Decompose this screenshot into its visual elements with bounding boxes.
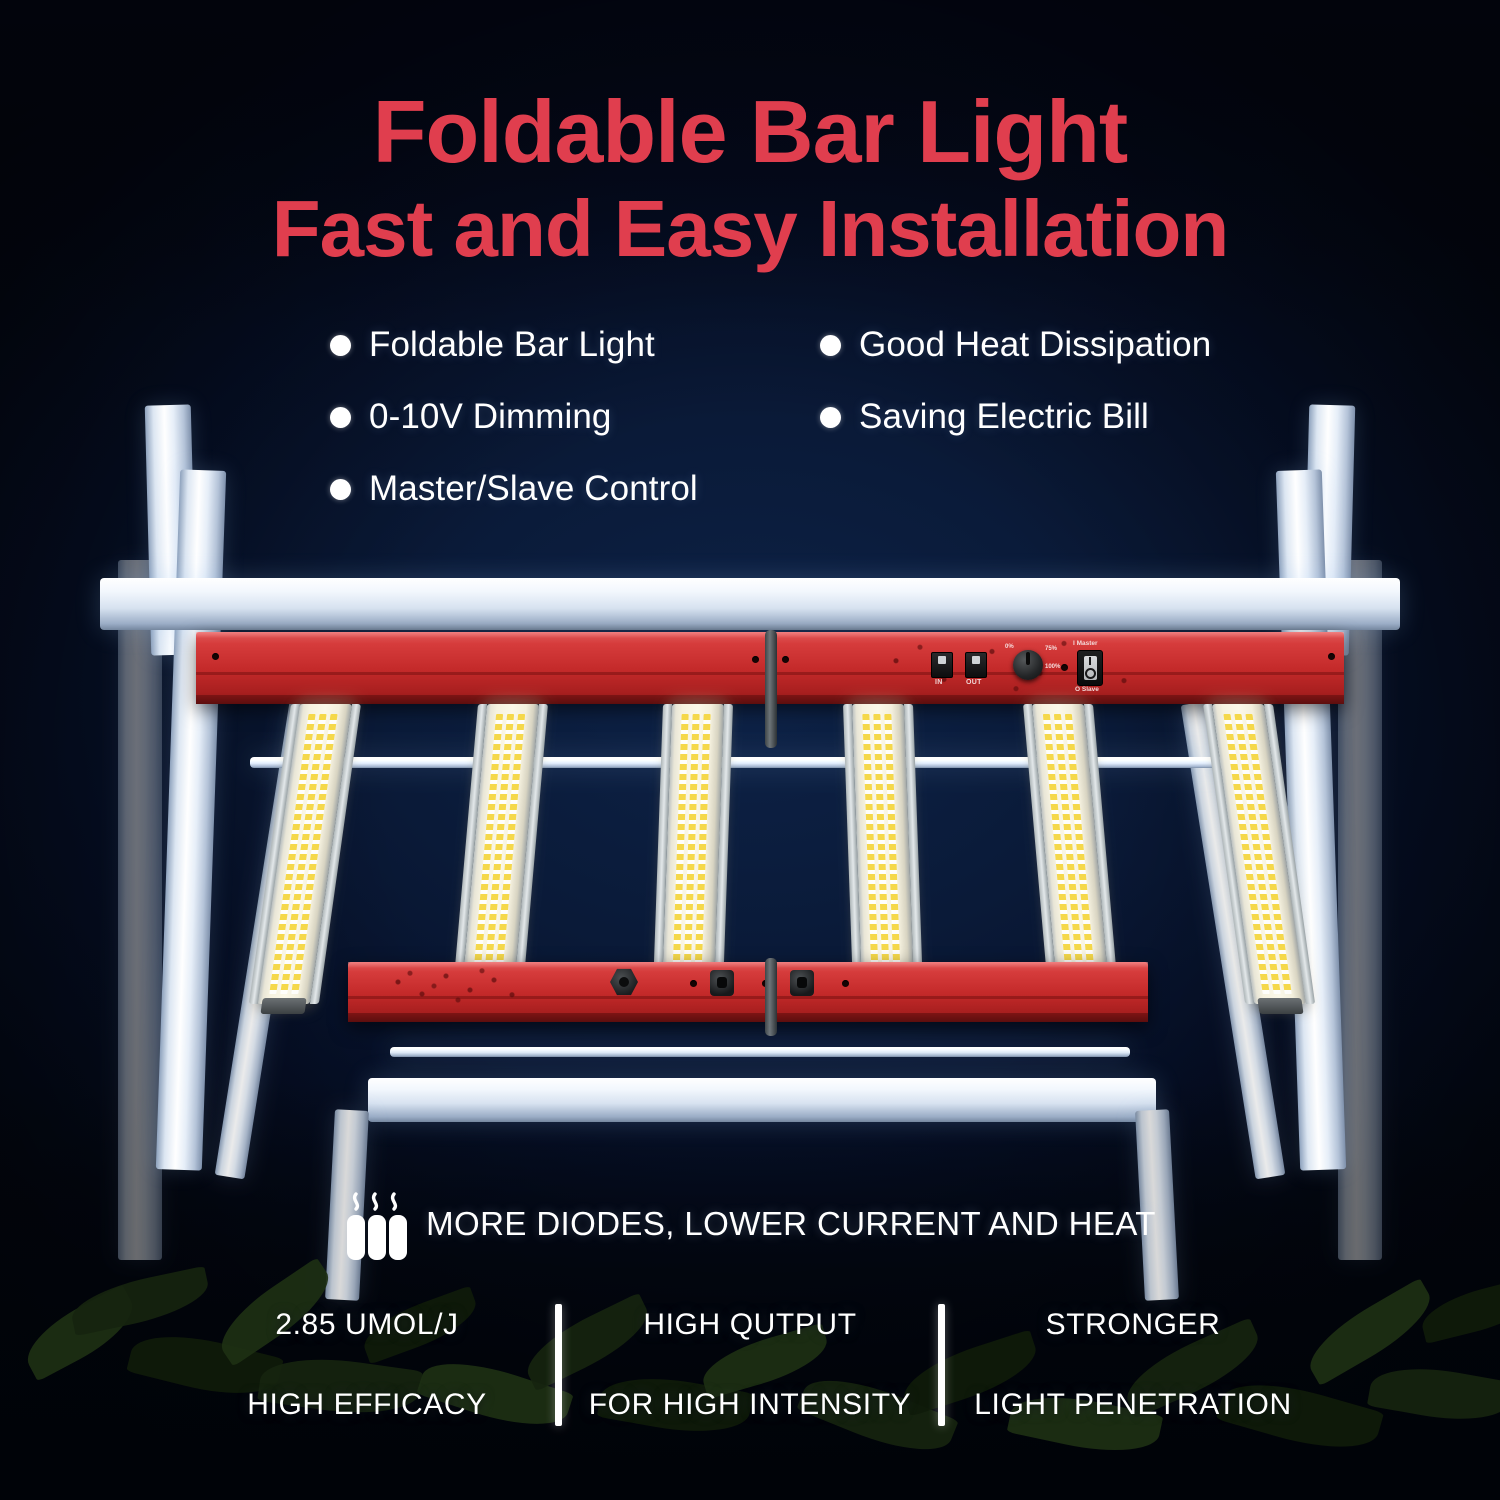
center-hinge-top: [765, 630, 777, 748]
page-subtitle: Fast and Easy Installation: [0, 186, 1500, 272]
feature-label: Master/Slave Control: [369, 469, 698, 509]
bullet-dot-icon: [820, 335, 841, 356]
dimming-knob[interactable]: [1013, 650, 1043, 680]
list-item: Saving Electric Bill: [820, 397, 1230, 437]
rj-port-out[interactable]: [965, 652, 987, 678]
frame-lower-thin-rail: [390, 1047, 1130, 1057]
led-bar-3: [662, 704, 724, 1004]
rj-port-in[interactable]: [931, 652, 953, 678]
feature-label: Foldable Bar Light: [369, 325, 655, 365]
feature-list: Foldable Bar Light 0-10V Dimming Master/…: [330, 325, 1230, 509]
stat-line-1: HIGH QUTPUT: [580, 1308, 920, 1342]
bullet-dot-icon: [330, 335, 351, 356]
headline-group: Foldable Bar Light Fast and Easy Install…: [0, 88, 1500, 272]
feature-column-left: Foldable Bar Light 0-10V Dimming Master/…: [330, 325, 820, 509]
list-item: Foldable Bar Light: [330, 325, 820, 365]
stats-row: 2.85 UMOL/J HIGH EFFICACY HIGH QUTPUT FO…: [0, 1300, 1500, 1430]
feature-label: Saving Electric Bill: [859, 397, 1149, 437]
led-bar-4: [852, 704, 914, 1004]
bottom-bar-screw-a: [690, 980, 697, 987]
red-bar-screw-left: [212, 653, 219, 660]
bottom-bar-screw-c: [842, 980, 849, 987]
product-marketing-banner: IN OUT 0% 75% 100% I Master O Slave: [0, 0, 1500, 1500]
red-bar-screw-mid-a: [752, 656, 759, 663]
switch-master-label: I Master: [1073, 640, 1098, 647]
stat-output: HIGH QUTPUT FOR HIGH INTENSITY: [580, 1300, 920, 1430]
switch-off-marking: [1085, 668, 1096, 679]
list-item: Master/Slave Control: [330, 469, 820, 509]
stat-line-1: 2.85 UMOL/J: [197, 1308, 537, 1342]
three-diodes-heat-icon: [344, 1185, 410, 1263]
center-hinge-bottom: [765, 958, 777, 1036]
master-slave-switch[interactable]: [1077, 650, 1103, 686]
knob-max-label: 100%: [1045, 664, 1060, 670]
switch-on-marking: [1089, 657, 1091, 665]
stat-line-2: LIGHT PENETRATION: [963, 1388, 1303, 1422]
heat-banner: MORE DIODES, LOWER CURRENT AND HEAT: [0, 1185, 1500, 1263]
stat-line-2: HIGH EFFICACY: [197, 1388, 537, 1422]
stat-efficacy: 2.85 UMOL/J HIGH EFFICACY: [197, 1300, 537, 1430]
control-panel: IN OUT 0% 75% 100% I Master O Slave: [925, 638, 1125, 700]
stat-divider-2: [938, 1304, 945, 1426]
led-frame-red-bar-bottom: [348, 962, 1148, 1022]
knob-mid-label: 75%: [1045, 646, 1057, 652]
rj-port-out-label: OUT: [966, 679, 982, 686]
knob-min-label: 0%: [1005, 644, 1014, 650]
bullet-dot-icon: [820, 407, 841, 428]
stat-line-2: FOR HIGH INTENSITY: [580, 1388, 920, 1422]
list-item: 0-10V Dimming: [330, 397, 820, 437]
switch-slave-label: O Slave: [1075, 686, 1099, 693]
led-bar-1: [258, 704, 352, 1004]
led-bar-5: [1032, 704, 1110, 1004]
feature-column-right: Good Heat Dissipation Saving Electric Bi…: [820, 325, 1230, 509]
feature-label: 0-10V Dimming: [369, 397, 612, 437]
feature-label: Good Heat Dissipation: [859, 325, 1211, 365]
bullet-dot-icon: [330, 407, 351, 428]
rj-port-in-label: IN: [935, 679, 943, 686]
power-cable-port-right: [790, 970, 814, 996]
list-item: Good Heat Dissipation: [820, 325, 1230, 365]
red-bar-screw-right: [1328, 653, 1335, 660]
bullet-dot-icon: [330, 479, 351, 500]
power-cable-port-left: [710, 970, 734, 996]
stat-penetration: STRONGER LIGHT PENETRATION: [963, 1300, 1303, 1430]
stat-line-1: STRONGER: [963, 1308, 1303, 1342]
page-title: Foldable Bar Light: [0, 88, 1500, 176]
frame-lower-crossbeam: [368, 1078, 1156, 1122]
control-panel-screw: [1061, 664, 1068, 671]
red-bar-screw-mid-b: [782, 656, 789, 663]
stat-divider-1: [555, 1304, 562, 1426]
frame-top-crossbeam: [100, 578, 1400, 630]
heat-banner-text: MORE DIODES, LOWER CURRENT AND HEAT: [426, 1205, 1156, 1243]
frame-upper-thin-rail: [250, 757, 1250, 768]
led-bar-2: [461, 704, 539, 1004]
